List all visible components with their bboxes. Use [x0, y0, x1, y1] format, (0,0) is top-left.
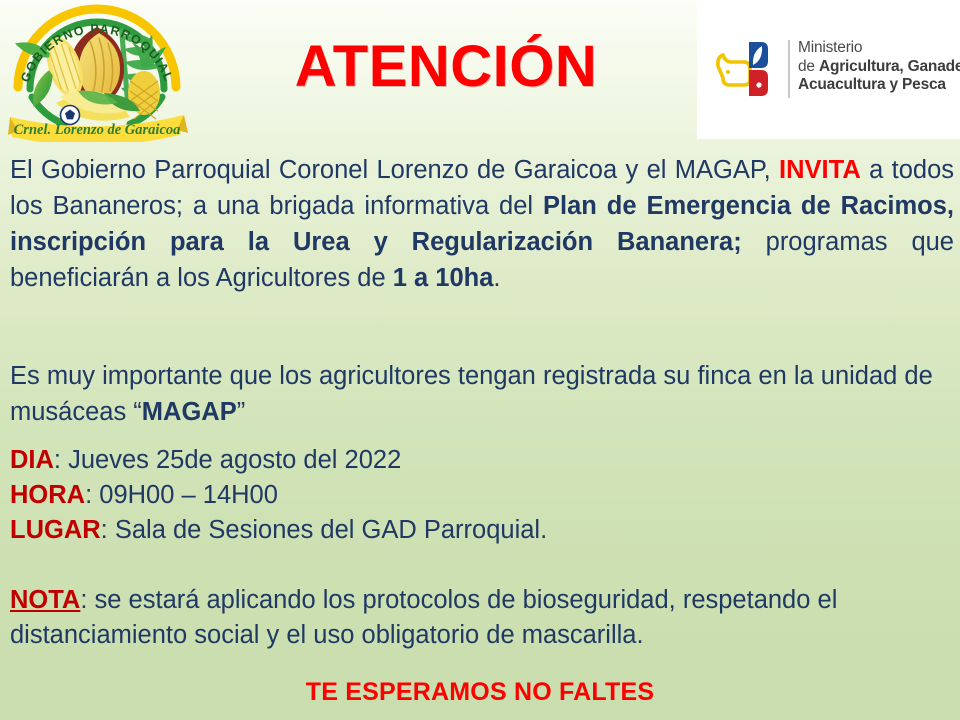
nota-text: se estará aplicando los protocolos de bi… [10, 586, 837, 649]
page-title: ATENCIÓN [196, 36, 696, 98]
paragraph-invitation: El Gobierno Parroquial Coronel Lorenzo d… [10, 152, 954, 296]
para2-segment-2: ” [237, 398, 246, 426]
closing-call-to-action: TE ESPERAMOS NO FALTES [0, 678, 960, 707]
detail-row-hora: HORA: 09H00 – 14H00 [10, 478, 710, 513]
para1-segment-1: El Gobierno Parroquial Coronel Lorenzo d… [10, 156, 779, 184]
ministry-line-2: de Agricultura, Ganadería, [798, 58, 960, 77]
event-details-list: DIA: Jueves 25de agosto del 2022 HORA: 0… [10, 443, 710, 548]
detail-row-lugar: LUGAR: Sala de Sesiones del GAD Parroqui… [10, 513, 710, 548]
parish-emblem-logo: GOBIERNO PARROQUIAL Crnel. Lorenzo de Ga… [4, 1, 190, 142]
para1-invita-highlight: INVITA [779, 156, 861, 184]
detail-label-hora: HORA [10, 481, 85, 509]
detail-label-lugar: LUGAR [10, 516, 101, 544]
ministry-line-1: Ministerio [798, 39, 960, 58]
detail-value-lugar: Sala de Sesiones del GAD Parroquial. [115, 516, 547, 544]
nota-label: NOTA [10, 586, 80, 614]
detail-label-dia: DIA [10, 446, 54, 474]
detail-sep-dia: : [54, 446, 68, 474]
detail-sep-lugar: : [101, 516, 115, 544]
ministry-logo-text: Ministerio de Agricultura, Ganadería, Ac… [798, 39, 960, 95]
detail-sep-hora: : [85, 481, 99, 509]
detail-value-dia: Jueves 25de agosto del 2022 [68, 446, 401, 474]
ministry-logo-divider [788, 40, 790, 98]
ministry-mark-icon [712, 36, 782, 102]
nota-block: NOTA: se estará aplicando los protocolos… [10, 583, 950, 653]
emblem-banner-text: Crnel. Lorenzo de Garaicoa [14, 122, 181, 138]
ministry-logo: Ministerio de Agricultura, Ganadería, Ac… [712, 36, 948, 108]
ministry-line-2-prefix: de [798, 58, 819, 75]
ministry-line-3: Acuacultura y Pesca [798, 76, 960, 95]
poster-header: GOBIERNO PARROQUIAL Crnel. Lorenzo de Ga… [0, 0, 960, 142]
para2-magap-bold: MAGAP [142, 398, 237, 426]
announcement-poster: GOBIERNO PARROQUIAL Crnel. Lorenzo de Ga… [0, 0, 960, 720]
paragraph-registration: Es muy importante que los agricultores t… [10, 358, 954, 430]
ministry-line-2-main: Agricultura, Ganadería, [819, 58, 960, 75]
para1-segment-4: . [493, 264, 500, 292]
detail-value-hora: 09H00 – 14H00 [99, 481, 278, 509]
nota-separator: : [80, 586, 94, 614]
detail-row-dia: DIA: Jueves 25de agosto del 2022 [10, 443, 710, 478]
para1-hectares-bold: 1 a 10ha [393, 264, 494, 292]
